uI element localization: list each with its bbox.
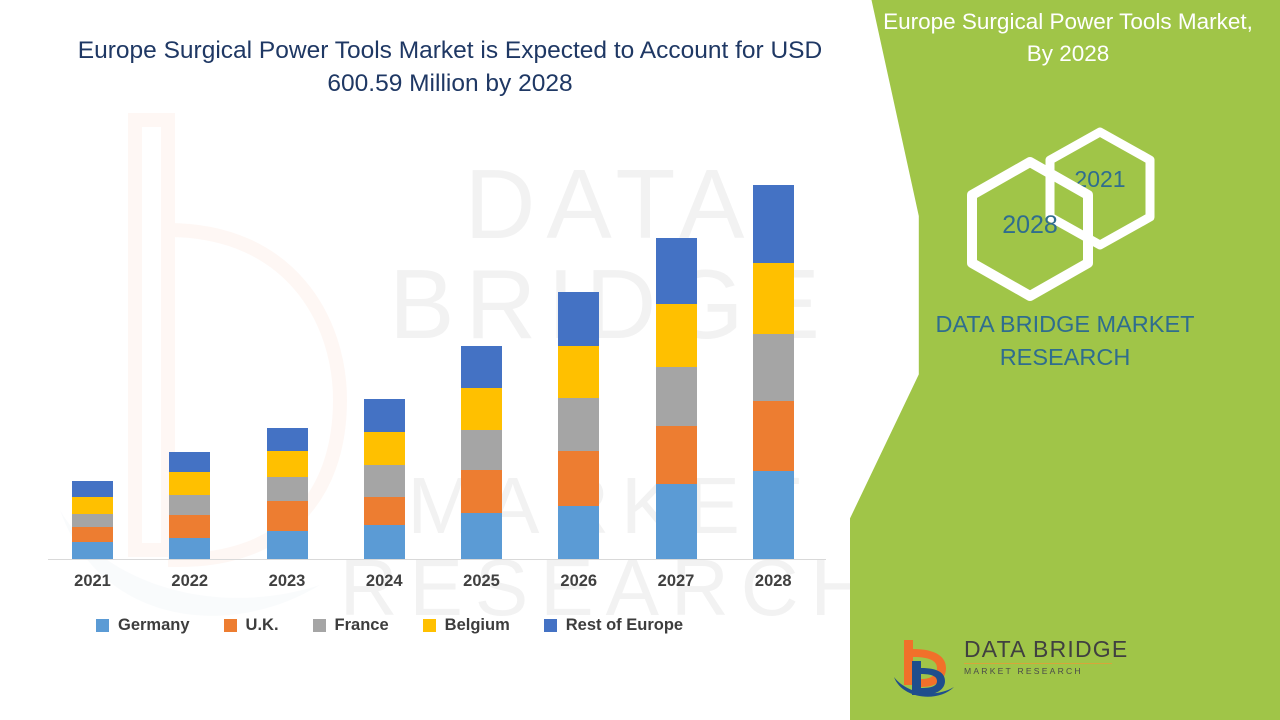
legend-label: France [335,616,389,635]
bar-segment[interactable] [72,481,113,497]
bar-segment[interactable] [753,263,794,334]
legend-item-france[interactable]: France [313,616,389,635]
x-axis-line [48,559,826,560]
plot-area [48,150,826,560]
bar-segment[interactable] [364,525,405,559]
bar-segment[interactable] [72,527,113,542]
legend-item-belgium[interactable]: Belgium [423,616,510,635]
bar-segment[interactable] [364,399,405,432]
data-bridge-logo: DATA BRIDGE MARKET RESEARCH [892,635,1107,697]
x-axis-label-2023: 2023 [247,572,327,591]
bar-group-2024[interactable] [364,399,405,559]
bar-segment[interactable] [656,484,697,559]
bar-segment[interactable] [656,238,697,304]
hexagon-group: 2021 2028 [960,126,1190,296]
bar-segment[interactable] [558,292,599,346]
bar-group-2025[interactable] [461,346,502,559]
bar-segment[interactable] [169,472,210,495]
x-axis-label-2024: 2024 [344,572,424,591]
bar-segment[interactable] [72,514,113,527]
bar-group-2028[interactable] [753,185,794,559]
bar-segment[interactable] [267,477,308,501]
bar-series-container [48,159,826,559]
legend-swatch [96,619,109,632]
x-axis-label-2022: 2022 [150,572,230,591]
bar-group-2027[interactable] [656,238,697,559]
x-axis-labels: 20212022202320242025202620272028 [48,572,826,598]
brand-panel: Europe Surgical Power Tools Market, By 2… [850,0,1280,720]
bar-segment[interactable] [169,515,210,538]
legend-label: Rest of Europe [566,616,683,635]
chart-legend: GermanyU.K.FranceBelgiumRest of Europe [96,616,717,635]
bar-group-2026[interactable] [558,292,599,559]
bar-segment[interactable] [753,185,794,263]
bar-segment[interactable] [656,304,697,367]
legend-label: Germany [118,616,190,635]
bar-segment[interactable] [656,426,697,484]
bar-segment[interactable] [753,334,794,401]
legend-label: U.K. [246,616,279,635]
legend-swatch [224,619,237,632]
x-axis-label-2028: 2028 [733,572,813,591]
bar-group-2022[interactable] [169,452,210,559]
bar-segment[interactable] [558,398,599,451]
legend-item-u-k[interactable]: U.K. [224,616,279,635]
legend-swatch [313,619,326,632]
bar-segment[interactable] [558,451,599,506]
bar-segment[interactable] [461,513,502,559]
chart-panel: DATA BRIDGE MARKET RESEARCH Europe Surgi… [0,0,900,720]
brand-name-text: DATA BRIDGE MARKET RESEARCH [870,308,1260,375]
x-axis-label-2021: 2021 [53,572,133,591]
legend-item-rest-of-europe[interactable]: Rest of Europe [544,616,683,635]
bar-segment[interactable] [461,430,502,470]
bar-segment[interactable] [72,542,113,559]
brand-panel-title: Europe Surgical Power Tools Market, By 2… [868,6,1268,69]
infographic-root: DATA BRIDGE MARKET RESEARCH Europe Surgi… [0,0,1280,720]
logo-main-text: DATA BRIDGE [964,637,1114,661]
bar-segment[interactable] [169,538,210,559]
legend-swatch [544,619,557,632]
x-axis-label-2027: 2027 [636,572,716,591]
hexagon-2028-label: 2028 [960,211,1100,240]
bar-segment[interactable] [364,465,405,497]
x-axis-label-2025: 2025 [442,572,522,591]
bar-segment[interactable] [461,388,502,430]
bar-segment[interactable] [461,346,502,388]
bar-segment[interactable] [558,346,599,398]
bar-segment[interactable] [753,401,794,471]
bar-group-2021[interactable] [72,481,113,559]
logo-divider [964,663,1112,664]
bar-segment[interactable] [753,471,794,559]
bar-segment[interactable] [656,367,697,426]
bar-group-2023[interactable] [267,428,308,559]
logo-wordmark: DATA BRIDGE MARKET RESEARCH [964,637,1114,676]
bar-segment[interactable] [461,470,502,513]
x-axis-label-2026: 2026 [539,572,619,591]
legend-label: Belgium [445,616,510,635]
logo-sub-text: MARKET RESEARCH [964,666,1114,676]
chart-title: Europe Surgical Power Tools Market is Ex… [60,35,840,101]
bar-segment[interactable] [558,506,599,559]
bar-segment[interactable] [364,432,405,465]
legend-item-germany[interactable]: Germany [96,616,190,635]
bar-segment[interactable] [267,501,308,531]
bar-segment[interactable] [267,428,308,451]
bar-segment[interactable] [267,451,308,477]
bar-segment[interactable] [169,452,210,472]
bar-segment[interactable] [364,497,405,525]
hexagon-2028: 2028 [960,156,1100,307]
logo-mark-icon [892,635,958,697]
bar-segment[interactable] [72,497,113,514]
bar-segment[interactable] [267,531,308,559]
bar-segment[interactable] [169,495,210,515]
legend-swatch [423,619,436,632]
